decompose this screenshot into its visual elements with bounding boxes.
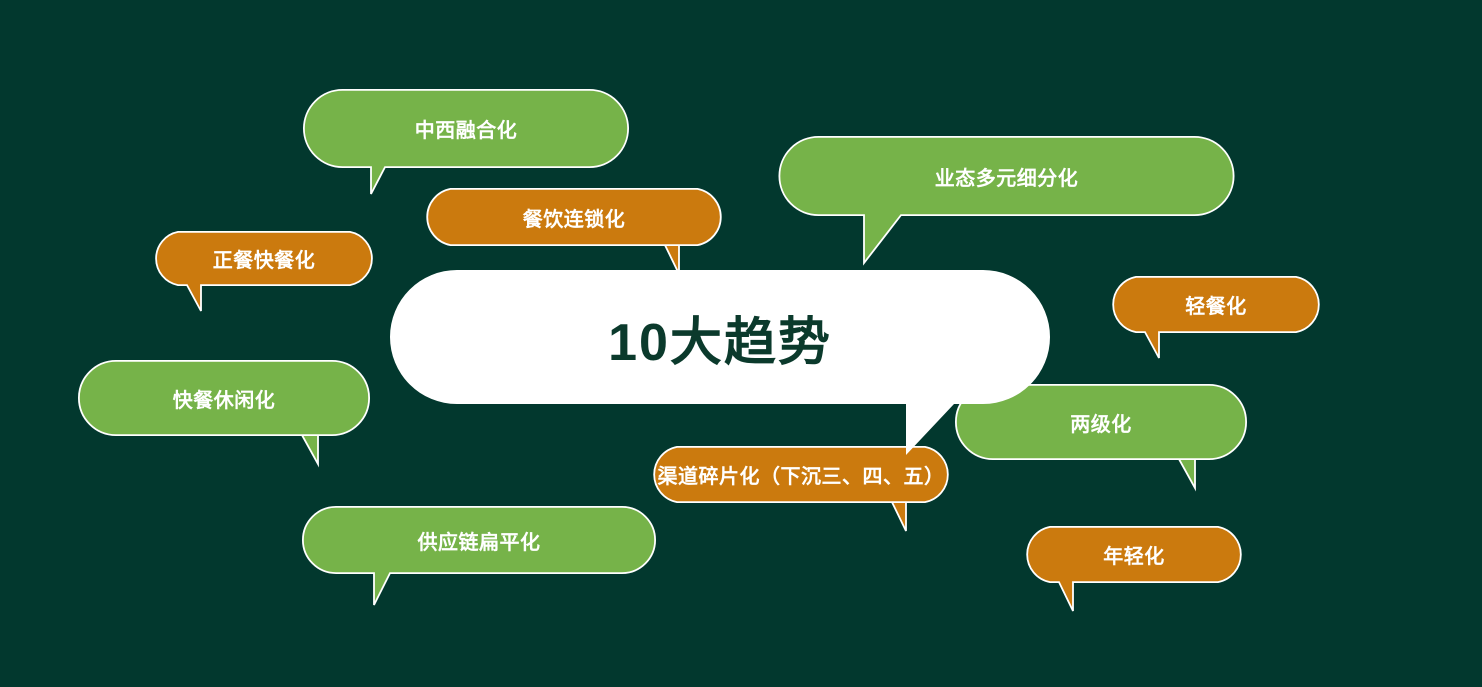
bubble-zhongxi-ronghehua[interactable]: 中西融合化 <box>303 89 629 168</box>
bubble-nianqinghua[interactable]: 年轻化 <box>1021 526 1247 583</box>
bubble-zhengcan-kuaicanhua[interactable]: 正餐快餐化 <box>150 231 378 286</box>
bubble-shape <box>1107 276 1325 370</box>
bubble-shape <box>78 360 370 472</box>
bubble-shape <box>1021 526 1247 622</box>
bubble-shape <box>778 136 1235 272</box>
bubble-gongyinglian-bianpinghua[interactable]: 供应链扁平化 <box>302 506 656 574</box>
slide-canvas: 中西融合化 餐饮连锁化 业态多元细分化 正餐快餐化 轻餐化 快餐休闲化 <box>0 0 1482 687</box>
bubble-canyin-liansuohua[interactable]: 餐饮连锁化 <box>421 188 727 246</box>
bubble-yetai-duoyuan-xifenhua[interactable]: 业态多元细分化 <box>778 136 1235 216</box>
bubble-shape <box>303 89 629 201</box>
bubble-shape <box>302 506 656 612</box>
bubble-shape <box>150 231 378 323</box>
bubble-shape <box>390 270 1050 460</box>
bubble-qingcanhua[interactable]: 轻餐化 <box>1107 276 1325 333</box>
bubble-shape <box>648 446 954 542</box>
bubble-kuaican-xiuxianhua[interactable]: 快餐休闲化 <box>78 360 370 436</box>
bubble-center-title[interactable]: 10大趋势 <box>390 270 1050 405</box>
